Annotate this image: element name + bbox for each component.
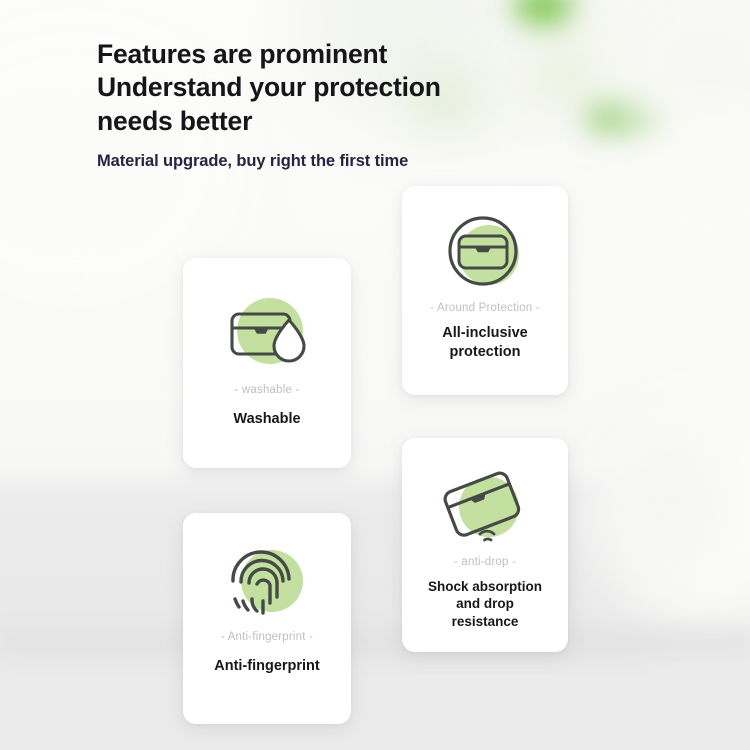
feature-card-all-inclusive-protection[interactable]: - Around Protection - All-inclusive prot… [402, 186, 568, 395]
headline-line-3: needs better [97, 106, 252, 136]
card-title: All-inclusive protection [432, 324, 537, 361]
card-caption: - anti-drop - [454, 556, 516, 568]
background-surface-edge [0, 620, 750, 660]
card-caption: - washable - [234, 384, 299, 396]
page-subtitle: Material upgrade, buy right the first ti… [97, 152, 617, 171]
tilted-case-impact-icon [435, 464, 535, 550]
card-caption: - Around Protection - [430, 302, 540, 314]
card-caption: - Anti-fingerprint - [221, 631, 313, 643]
feature-highlights-page: Features are prominent Understand your p… [0, 0, 750, 750]
page-heading-block: Features are prominent Understand your p… [97, 38, 617, 171]
card-title-line-1: All-inclusive [442, 325, 527, 341]
card-title: Washable [223, 410, 310, 429]
page-title: Features are prominent Understand your p… [97, 38, 617, 138]
card-title-line-2: and drop [456, 596, 514, 611]
card-title: Anti-fingerprint [204, 657, 330, 676]
headline-line-2: Understand your protection [97, 72, 441, 102]
card-title-line-1: Shock absorption [428, 579, 542, 594]
card-title: Shock absorption and drop resistance [418, 578, 552, 630]
case-with-water-drop-icon [217, 290, 317, 376]
headline-line-1: Features are prominent [97, 39, 387, 69]
feature-card-anti-fingerprint[interactable]: - Anti-fingerprint - Anti-fingerprint [183, 513, 351, 724]
card-title-line-2: protection [450, 344, 521, 360]
case-in-ring-icon [435, 210, 535, 296]
feature-card-washable[interactable]: - washable - Washable [183, 258, 351, 468]
feature-card-anti-drop[interactable]: - anti-drop - Shock absorption and drop … [402, 438, 568, 652]
background-shape-stem [630, 430, 720, 580]
fingerprint-icon [217, 537, 317, 623]
card-title-line-3: resistance [452, 614, 519, 629]
